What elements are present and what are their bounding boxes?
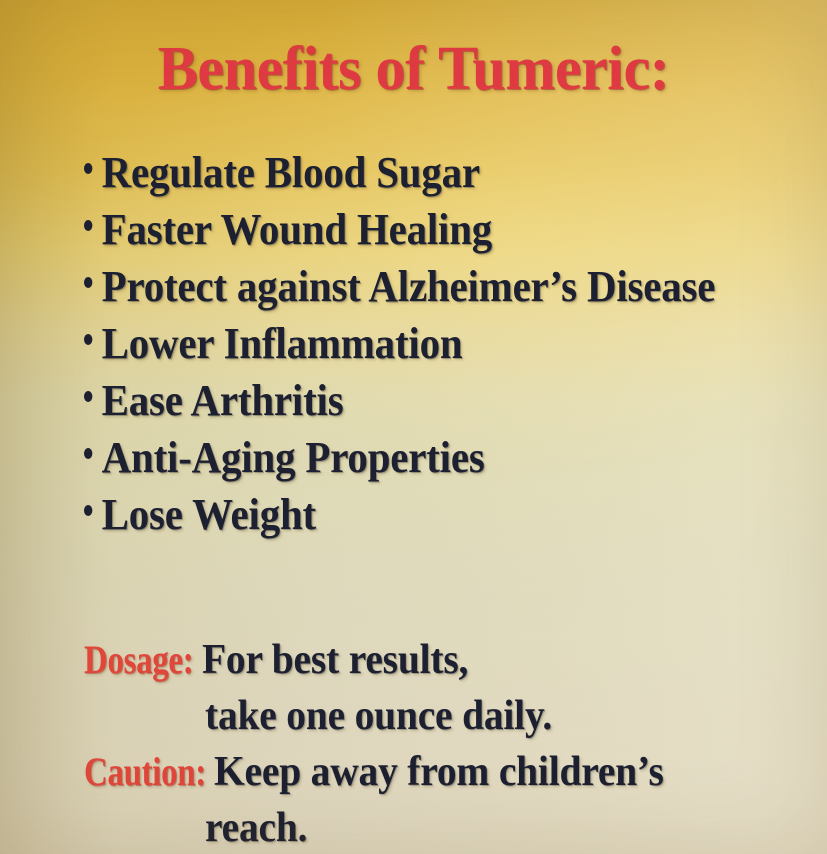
benefit-text: Lose Weight	[102, 490, 316, 539]
bullet-dot-icon	[84, 448, 92, 459]
dosage-row: Dosage:For best results,	[84, 634, 824, 690]
bullet-dot-icon	[84, 505, 92, 516]
benefit-text: Lower Inflammation	[102, 319, 463, 368]
dosage-continuation-row: take one ounce daily.	[84, 690, 824, 746]
list-item: Faster Wound Healing	[84, 203, 715, 260]
benefit-text: Faster Wound Healing	[102, 205, 492, 254]
caution-line-2: reach.	[205, 802, 307, 854]
usage-notes: Dosage:For best results, take one ounce …	[84, 634, 824, 854]
caution-continuation-row: reach.	[84, 802, 824, 854]
list-item: Anti-Aging Properties	[84, 431, 715, 488]
dosage-line-2: take one ounce daily.	[205, 690, 552, 742]
bullet-dot-icon	[84, 391, 92, 402]
caution-line-1: Keep away from children’s	[214, 746, 664, 798]
bullet-dot-icon	[84, 220, 92, 231]
caution-row: Caution:Keep away from children’s	[84, 746, 824, 802]
benefit-text: Ease Arthritis	[102, 376, 344, 425]
list-item: Protect against Alzheimer’s Disease	[84, 260, 715, 317]
page-title: Benefits of Tumeric:	[12, 38, 814, 100]
bullet-dot-icon	[84, 334, 92, 345]
dosage-line-1: For best results,	[202, 634, 468, 686]
benefits-list: Regulate Blood Sugar Faster Wound Healin…	[84, 146, 763, 545]
list-item: Lose Weight	[84, 488, 715, 545]
list-item: Ease Arthritis	[84, 374, 715, 431]
benefit-text: Anti-Aging Properties	[102, 433, 485, 482]
dosage-label: Dosage:	[84, 634, 181, 686]
bullet-dot-icon	[84, 277, 92, 288]
label-content: Benefits of Tumeric: Regulate Blood Suga…	[0, 0, 827, 854]
benefit-text: Protect against Alzheimer’s Disease	[102, 262, 716, 311]
benefit-text: Regulate Blood Sugar	[102, 148, 480, 197]
supplement-label-photo: Benefits of Tumeric: Regulate Blood Suga…	[0, 0, 827, 854]
caution-label: Caution:	[84, 746, 191, 798]
list-item: Regulate Blood Sugar	[84, 146, 715, 203]
bullet-dot-icon	[84, 163, 92, 174]
list-item: Lower Inflammation	[84, 317, 715, 374]
